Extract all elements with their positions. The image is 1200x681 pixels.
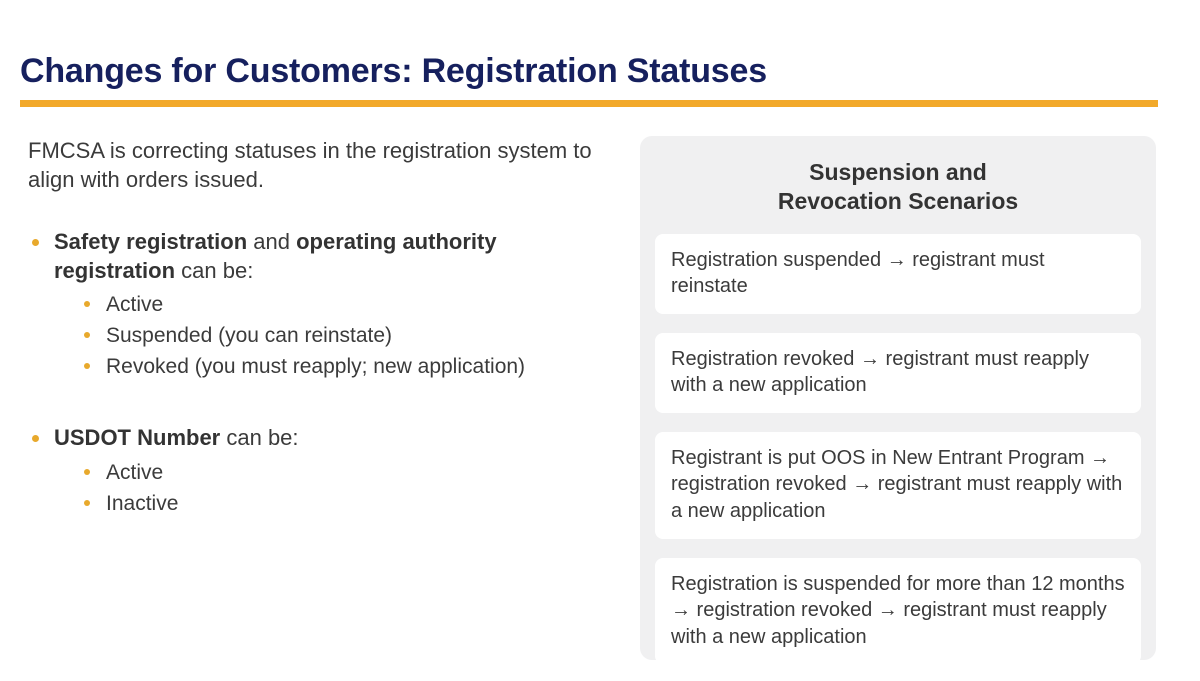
list-item: Active — [54, 457, 610, 488]
scenario-card: Registration suspended → registrant must… — [655, 234, 1141, 314]
sub-item-label: Active — [106, 293, 163, 316]
bullet-text-safety-registration: Safety registration and operating author… — [54, 229, 497, 283]
sub-list-usdot-statuses: Active Inactive — [54, 457, 610, 519]
sub-bullet-dot-icon — [84, 469, 90, 475]
sub-item-label: Active — [106, 461, 163, 484]
bold-usdot-number: USDOT Number — [54, 425, 220, 450]
sub-item-label: Inactive — [106, 492, 178, 515]
bullet-dot-icon — [32, 239, 39, 246]
sub-bullet-dot-icon — [84, 332, 90, 338]
bold-safety-registration: Safety registration — [54, 229, 247, 254]
list-spacer — [28, 388, 610, 424]
bullet-dot-icon — [32, 435, 39, 442]
slide-root: Changes for Customers: Registration Stat… — [0, 0, 1200, 681]
bullet-item-usdot-number: USDOT Number can be: Active Inactive — [28, 424, 610, 519]
list-item: Revoked (you must reapply; new applicati… — [54, 351, 610, 382]
title-underline-rule — [20, 100, 1158, 107]
list-item: Suspended (you can reinstate) — [54, 320, 610, 351]
scenario-card: Registration revoked → registrant must r… — [655, 333, 1141, 413]
list-item: Inactive — [54, 488, 610, 519]
intro-paragraph: FMCSA is correcting statuses in the regi… — [28, 136, 610, 194]
sub-bullet-dot-icon — [84, 301, 90, 307]
sub-item-label: Revoked (you must reapply; new applicati… — [106, 355, 525, 378]
scenario-card: Registrant is put OOS in New Entrant Pro… — [655, 432, 1141, 539]
sub-bullet-dot-icon — [84, 363, 90, 369]
bullet-text-usdot-number: USDOT Number can be: — [54, 425, 299, 450]
sub-list-safety-statuses: Active Suspended (you can reinstate) Rev… — [54, 289, 610, 382]
list-item: Active — [54, 289, 610, 320]
text-can-be: can be: — [220, 425, 298, 450]
bullet-item-safety-registration: Safety registration and operating author… — [28, 228, 610, 382]
sub-bullet-dot-icon — [84, 500, 90, 506]
scenario-card: Registration is suspended for more than … — [655, 558, 1141, 665]
text-and: and — [247, 229, 296, 254]
scenarios-panel-title: Suspension and Revocation Scenarios — [655, 158, 1141, 216]
sub-item-label: Suspended (you can reinstate) — [106, 324, 392, 347]
scenarios-panel: Suspension and Revocation Scenarios Regi… — [640, 136, 1156, 660]
page-title: Changes for Customers: Registration Stat… — [20, 52, 1160, 91]
text-can-be: can be: — [175, 258, 253, 283]
registration-bullet-list: Safety registration and operating author… — [28, 228, 610, 519]
left-content-column: FMCSA is correcting statuses in the regi… — [28, 136, 610, 525]
title-block: Changes for Customers: Registration Stat… — [20, 52, 1160, 91]
scenario-card-list: Registration suspended → registrant must… — [655, 234, 1141, 665]
